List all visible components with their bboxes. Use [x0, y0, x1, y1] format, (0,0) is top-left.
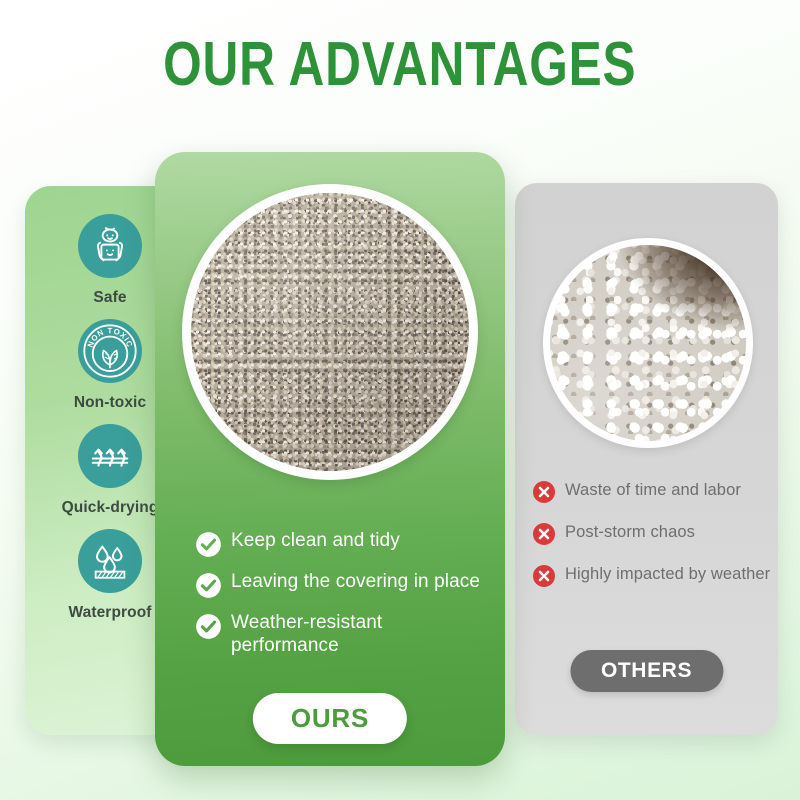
list-item: Keep clean and tidy	[195, 530, 485, 558]
check-circle-icon	[195, 613, 222, 640]
cross-icon	[532, 522, 556, 546]
drawback-text: Waste of time and labor	[565, 479, 741, 501]
quick-drying-arrows-icon	[78, 424, 142, 488]
ours-comparison-card: Keep clean and tidy Leaving the covering…	[155, 152, 505, 766]
check-circle-icon	[195, 572, 222, 599]
waterproof-droplets-icon	[78, 529, 142, 593]
drawback-text: Post-storm chaos	[565, 521, 695, 543]
others-drawback-list: Waste of time and labor Post-storm chaos…	[532, 479, 782, 605]
ours-badge: OURS	[253, 693, 407, 744]
check-circle-icon	[195, 531, 222, 558]
comparison-stage: Safe NON TOXIC	[0, 0, 800, 800]
non-toxic-leaf-icon: NON TOXIC	[78, 319, 142, 383]
benefit-text: Weather-resistant performance	[231, 612, 485, 658]
list-item: Leaving the covering in place	[195, 571, 485, 599]
others-badge: OTHERS	[570, 650, 723, 692]
benefit-text: Keep clean and tidy	[231, 530, 400, 553]
benefit-text: Leaving the covering in place	[231, 571, 480, 594]
cross-icon	[532, 480, 556, 504]
fine-gravel-product-photo	[182, 184, 478, 480]
drawback-text: Highly impacted by weather	[565, 563, 770, 585]
baby-safe-icon	[78, 214, 142, 278]
coarse-rock-comparison-photo	[543, 238, 753, 448]
list-item: Highly impacted by weather	[532, 563, 782, 588]
ours-benefit-list: Keep clean and tidy Leaving the covering…	[195, 530, 485, 671]
list-item: Weather-resistant performance	[195, 612, 485, 658]
list-item: Waste of time and labor	[532, 479, 782, 504]
cross-icon	[532, 564, 556, 588]
list-item: Post-storm chaos	[532, 521, 782, 546]
others-comparison-card: Waste of time and labor Post-storm chaos…	[515, 183, 778, 735]
